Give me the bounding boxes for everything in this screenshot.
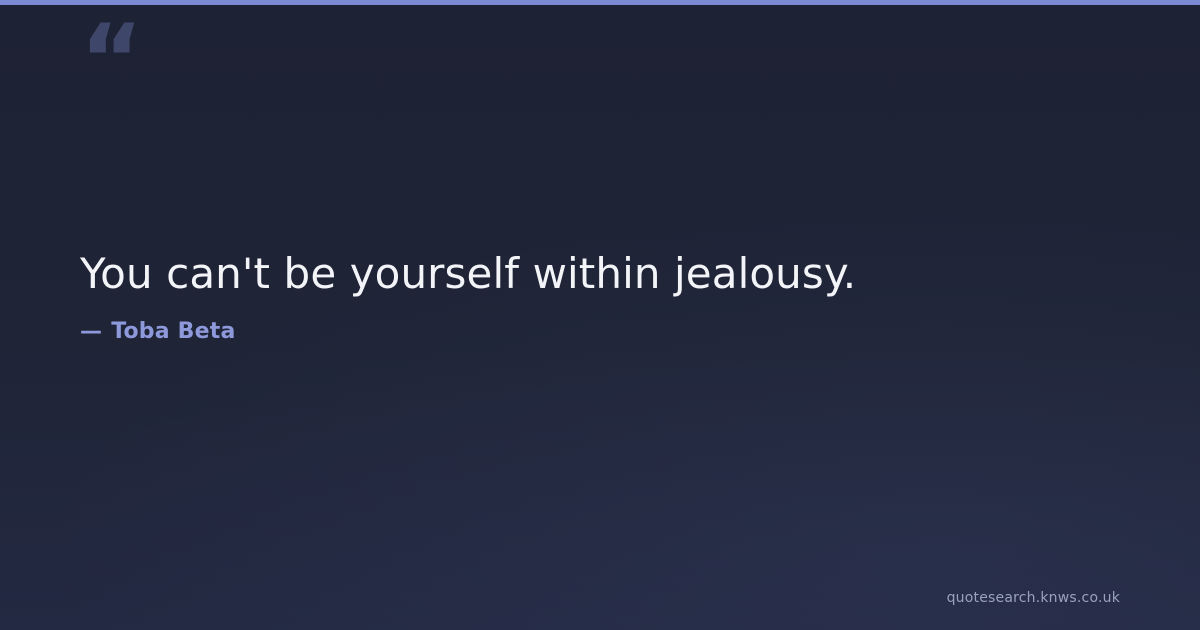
site-watermark: quotesearch.knws.co.uk [947,590,1120,606]
attribution-dash: — [80,319,102,344]
top-accent-bar [0,0,1200,5]
quote-block: You can't be yourself within jealousy. —… [80,246,1120,344]
quote-attribution: — Toba Beta [80,319,1120,344]
quote-text: You can't be yourself within jealousy. [80,246,1120,301]
quote-card: “ You can't be yourself within jealousy.… [0,0,1200,630]
quote-author-name: Toba Beta [111,319,235,344]
double-quote-icon: “ [80,12,143,108]
